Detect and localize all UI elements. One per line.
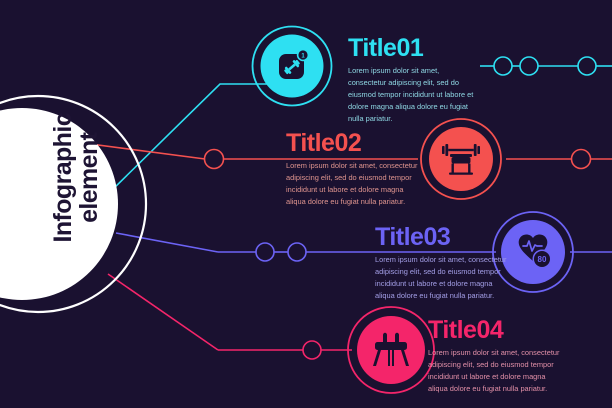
- node-dot: [572, 150, 591, 169]
- node-dot: [494, 57, 512, 75]
- item-01-title: Title01: [348, 36, 478, 61]
- infographic-canvas: 1: [0, 0, 612, 408]
- item-03-text-block: Title03 Lorem ipsum dolor sit amet, cons…: [375, 225, 507, 302]
- node-dot: [303, 341, 321, 359]
- item-04-text-block: Title04 Lorem ipsum dolor sit amet, cons…: [428, 318, 560, 395]
- node-dot: [288, 243, 306, 261]
- item-04-badge[interactable]: [348, 307, 434, 393]
- item-03-title: Title03: [375, 225, 507, 250]
- node-dot: [578, 57, 596, 75]
- node-dot: [520, 57, 538, 75]
- item-02-text-block: Title02 Lorem ipsum dolor sit amet, cons…: [286, 131, 418, 208]
- item-04-title: Title04: [428, 318, 560, 343]
- hub-circle[interactable]: [0, 96, 146, 312]
- item-02-title: Title02: [286, 131, 418, 156]
- item-02-body: Lorem ipsum dolor sit amet, consectetur …: [286, 160, 418, 208]
- node-dot: [256, 243, 274, 261]
- item-01-badge[interactable]: 1: [253, 27, 332, 106]
- item-03-body: Lorem ipsum dolor sit amet, consectetur …: [375, 254, 507, 302]
- node-dot: [205, 150, 224, 169]
- item-02-badge[interactable]: [421, 119, 501, 199]
- item-01-body: Lorem ipsum dolor sit amet, consectetur …: [348, 65, 478, 125]
- heart-rate-value: 80: [538, 255, 547, 264]
- item-04-body: Lorem ipsum dolor sit amet, consectetur …: [428, 347, 560, 395]
- item-01-text-block: Title01 Lorem ipsum dolor sit amet, cons…: [348, 36, 478, 125]
- connector-line-04: [108, 274, 352, 359]
